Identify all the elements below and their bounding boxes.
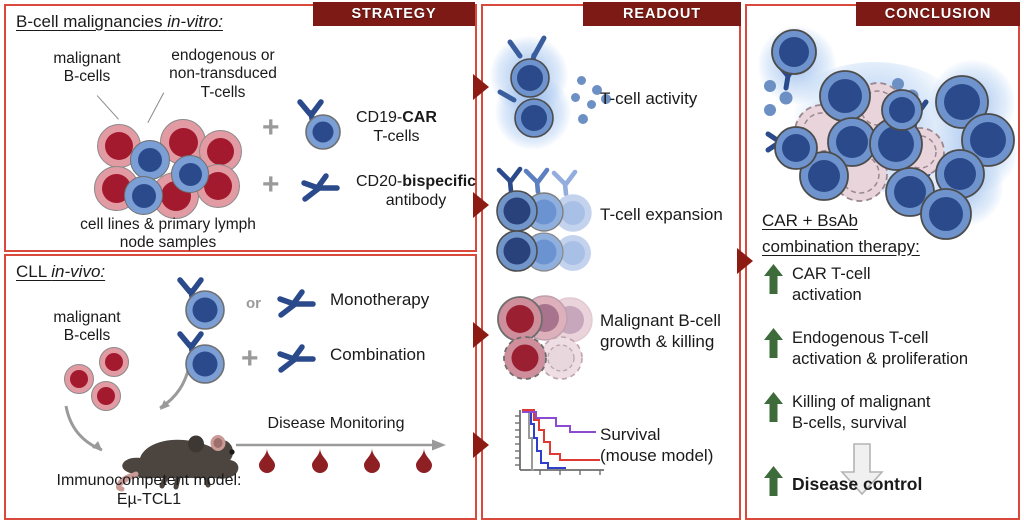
- plus-sign-combination: +: [241, 344, 259, 374]
- cd20-prefix: CD20-: [356, 173, 402, 190]
- readout-label-1: T-cell activity: [600, 89, 697, 109]
- b-cell-nucleus: [70, 370, 88, 388]
- flow-arrow-readout-3: [473, 322, 489, 348]
- t-cell-nucleus: [179, 163, 202, 186]
- label-endogenous-tcells: endogenous or non-transduced T-cells: [148, 47, 298, 102]
- banner-conclusion: CONCLUSION: [856, 2, 1020, 26]
- label-mouse-model: Immunocompetent model: Eµ-TCL1: [34, 472, 264, 510]
- flow-arrow-conclusion: [737, 248, 753, 274]
- label-monotherapy: Monotherapy: [330, 290, 429, 310]
- label-disease-monitoring: Disease Monitoring: [236, 415, 436, 434]
- up-arrow-icon: [764, 392, 783, 422]
- or-connector: or: [246, 295, 261, 312]
- readout-label-3: Malignant B-cell growth & killing: [600, 310, 721, 353]
- b-cell-nucleus: [169, 128, 198, 157]
- car-tcell-mono-svg: [172, 276, 232, 334]
- label-cd19-car-tcells: CD19-CAR T-cells: [356, 108, 437, 146]
- in-vitro-heading: B-cell malignancies in-vitro:: [16, 12, 223, 32]
- up-arrow-icon: [764, 466, 783, 496]
- in-vitro-heading-plain: B-cell malignancies: [16, 12, 167, 31]
- blood-drop-icon: [258, 448, 276, 473]
- car-tcell-svg: [292, 98, 352, 154]
- conclusion-cluster-svg: [750, 24, 1018, 224]
- readout-label-2: T-cell expansion: [600, 205, 723, 225]
- bispecific-mono-svg: [272, 286, 330, 326]
- antibody-line2: antibody: [356, 191, 476, 210]
- up-arrow-icon: [764, 328, 783, 358]
- tcell-activity-svg: [498, 34, 578, 154]
- tcell-expansion-svg: [496, 165, 611, 270]
- blood-drop-icon: [415, 448, 433, 473]
- t-cell-nucleus: [132, 184, 156, 208]
- car-tcell-icon: [292, 98, 352, 154]
- cd19-prefix: CD19-: [356, 109, 402, 126]
- in-vitro-heading-italic: in-vitro:: [167, 12, 223, 31]
- cytokine-dot: [577, 76, 586, 85]
- bcell-killing-svg: [500, 292, 605, 384]
- car-tcells-line2: T-cells: [356, 127, 437, 146]
- b-cell-nucleus: [207, 138, 234, 165]
- conclusion-bullet-3: Killing of malignant B-cells, survival: [792, 392, 931, 433]
- cytokine-dot: [578, 114, 588, 124]
- conclusion-final-statement: Disease control: [792, 474, 922, 495]
- cytokine-dot: [571, 93, 580, 102]
- car-tcell-combo-svg: [172, 330, 232, 388]
- flow-arrow-readout-4: [473, 432, 489, 458]
- flow-arrow-readout-1: [473, 74, 489, 100]
- label-malignant-bcells-invitro: malignant B-cells: [32, 50, 142, 87]
- in-vivo-heading-plain: CLL: [16, 262, 51, 281]
- banner-readout: READOUT: [583, 2, 741, 26]
- banner-strategy: STRATEGY: [313, 2, 475, 26]
- t-cell-nucleus: [138, 148, 162, 172]
- car-tcell-icon-mono: [172, 276, 232, 334]
- b-cell-nucleus: [105, 353, 123, 371]
- label-malignant-bcells-invivo: malignant B-cells: [32, 309, 142, 346]
- b-cell-nucleus: [105, 132, 133, 160]
- conclusion-bullet-2: Endogenous T-cell activation & prolifera…: [792, 328, 968, 369]
- conclusion-heading-line1: CAR + BsAb: [762, 208, 920, 234]
- in-vivo-heading: CLL in-vivo:: [16, 262, 105, 282]
- bispecific-antibody-icon: [296, 170, 354, 210]
- plus-sign-car: +: [262, 113, 280, 143]
- conclusion-bullet-1: CAR T-cell activation: [792, 264, 871, 305]
- caption-cell-lines: cell lines & primary lymph node samples: [58, 216, 278, 253]
- bispecific-antibody-icon-mono: [272, 286, 330, 326]
- bispecific-antibody-icon-combo: [272, 341, 330, 381]
- survival-chart-svg: [508, 406, 610, 482]
- blood-drop-icon: [363, 448, 381, 473]
- car-tcell-icon-combo: [172, 330, 232, 388]
- flow-arrow-readout-2: [473, 192, 489, 218]
- bispecific-svg: [296, 170, 354, 210]
- blood-drop-icon: [311, 448, 329, 473]
- up-arrow-icon: [764, 264, 783, 294]
- in-vivo-heading-italic: in-vivo:: [51, 262, 105, 281]
- bispecific-bold: bispecific: [402, 173, 476, 190]
- plus-sign-bispecific: +: [262, 170, 280, 200]
- graphical-abstract: STRATEGY READOUT CONCLUSION B-cell malig…: [0, 0, 1024, 524]
- label-cd20-bispecific: CD20-bispecific antibody: [356, 172, 476, 210]
- conclusion-heading: CAR + BsAb combination therapy:: [762, 208, 920, 259]
- cytokine-dot: [587, 100, 596, 109]
- bispecific-combo-svg: [272, 341, 330, 381]
- conclusion-heading-line2: combination therapy:: [762, 234, 920, 260]
- readout-label-4: Survival (mouse model): [600, 424, 713, 467]
- label-combination: Combination: [330, 345, 425, 365]
- car-bold: CAR: [402, 109, 437, 126]
